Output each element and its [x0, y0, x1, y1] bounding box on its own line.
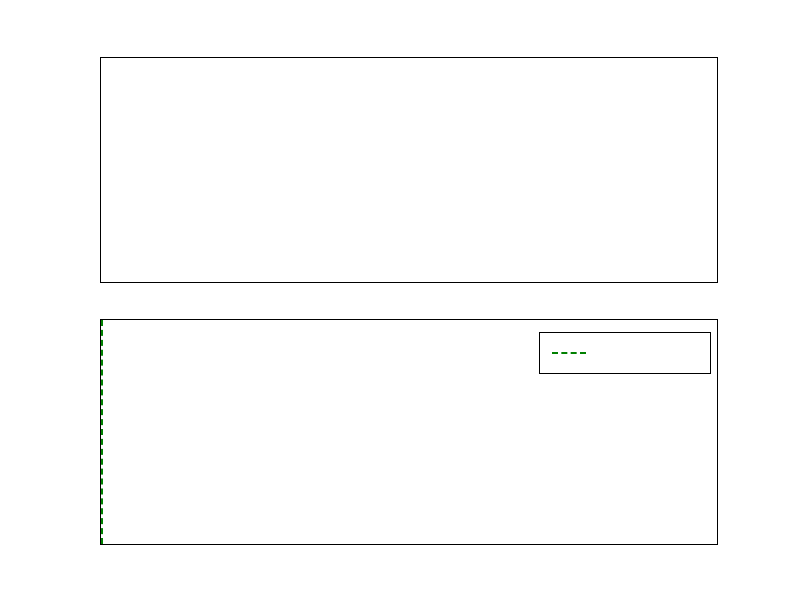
- histogram-plot-area: [101, 58, 717, 282]
- figure-canvas: [0, 0, 800, 600]
- histogram-axes: [100, 57, 718, 283]
- cumulative-axes: [100, 319, 718, 545]
- mag-limit-line: [101, 320, 103, 544]
- mag-limit-dash-icon: [552, 352, 586, 354]
- legend: [539, 332, 711, 374]
